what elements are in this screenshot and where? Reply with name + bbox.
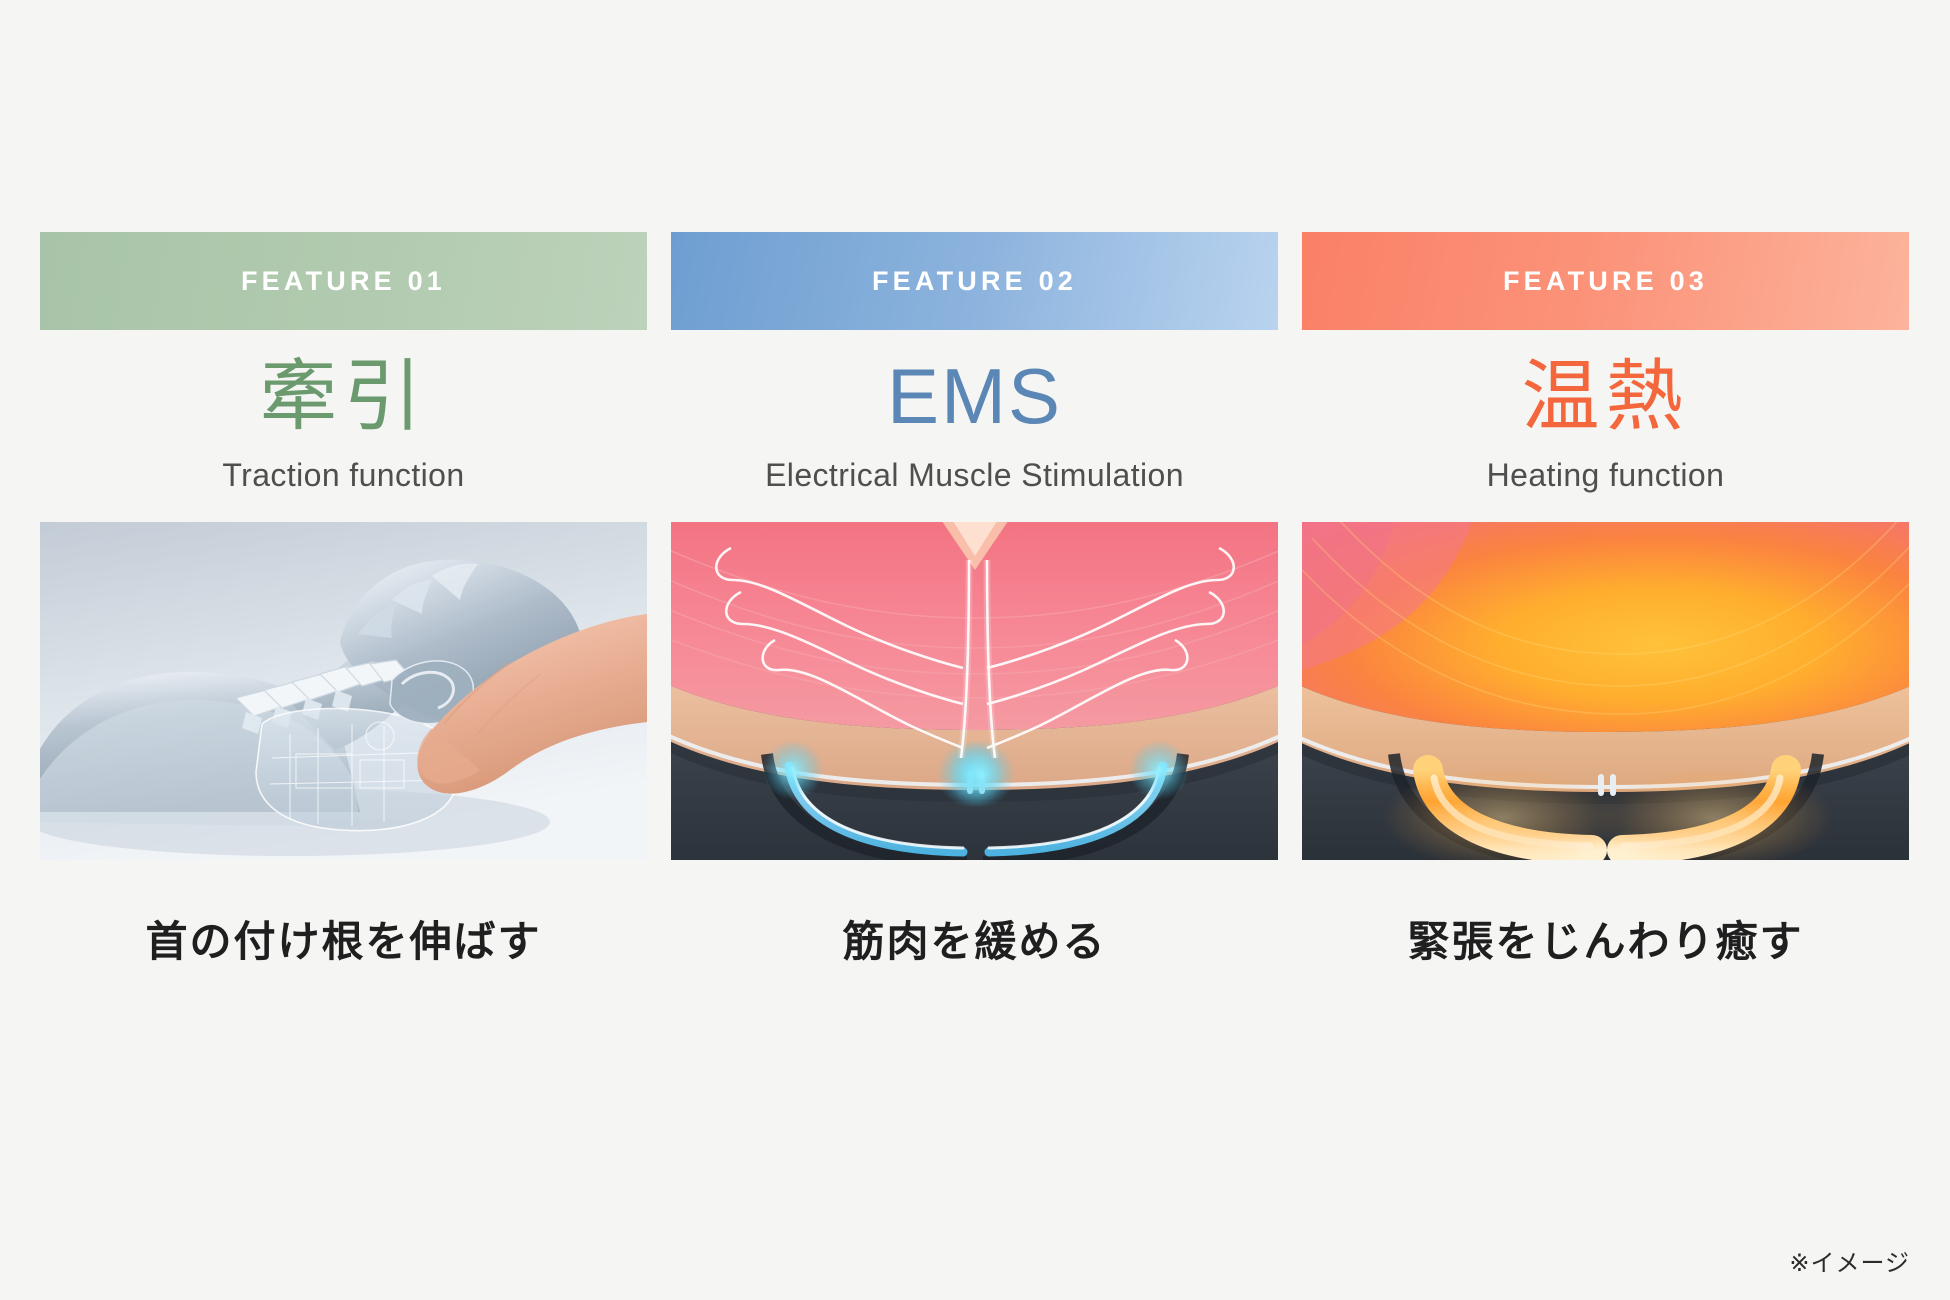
feature-title-block-01: 牽引 Traction function [222,330,464,498]
feature-banner-label: FEATURE 01 [241,266,446,297]
feature-jp-title: EMS [887,357,1062,437]
feature-jp-title: 牽引 [259,357,427,437]
traction-illustration [40,522,647,860]
heating-illustration [1302,522,1909,860]
feature-banner-03: FEATURE 03 [1302,232,1909,330]
feature-banner-label: FEATURE 02 [872,266,1077,297]
feature-en-subtitle: Heating function [1487,457,1725,494]
feature-title-block-03: 温熱 Heating function [1487,330,1725,498]
ems-illustration [671,522,1278,860]
feature-en-subtitle: Traction function [222,457,464,494]
feature-jp-title: 温熱 [1521,357,1689,437]
feature-caption: 緊張をじんわり癒す [1407,908,1803,969]
feature-columns: FEATURE 01 牽引 Traction function [40,232,1910,969]
feature-column-02: FEATURE 02 EMS Electrical Muscle Stimula… [671,232,1278,969]
feature-banner-02: FEATURE 02 [671,232,1278,330]
feature-title-block-02: EMS Electrical Muscle Stimulation [765,330,1184,498]
feature-en-subtitle: Electrical Muscle Stimulation [765,457,1184,494]
feature-banner-01: FEATURE 01 [40,232,647,330]
feature-column-01: FEATURE 01 牽引 Traction function [40,232,647,969]
feature-caption: 筋肉を緩める [842,908,1106,969]
feature-caption: 首の付け根を伸ばす [145,908,541,969]
feature-column-03: FEATURE 03 温熱 Heating function [1302,232,1909,969]
feature-banner-label: FEATURE 03 [1503,266,1708,297]
image-disclaimer-note: ※イメージ [1789,1243,1910,1278]
